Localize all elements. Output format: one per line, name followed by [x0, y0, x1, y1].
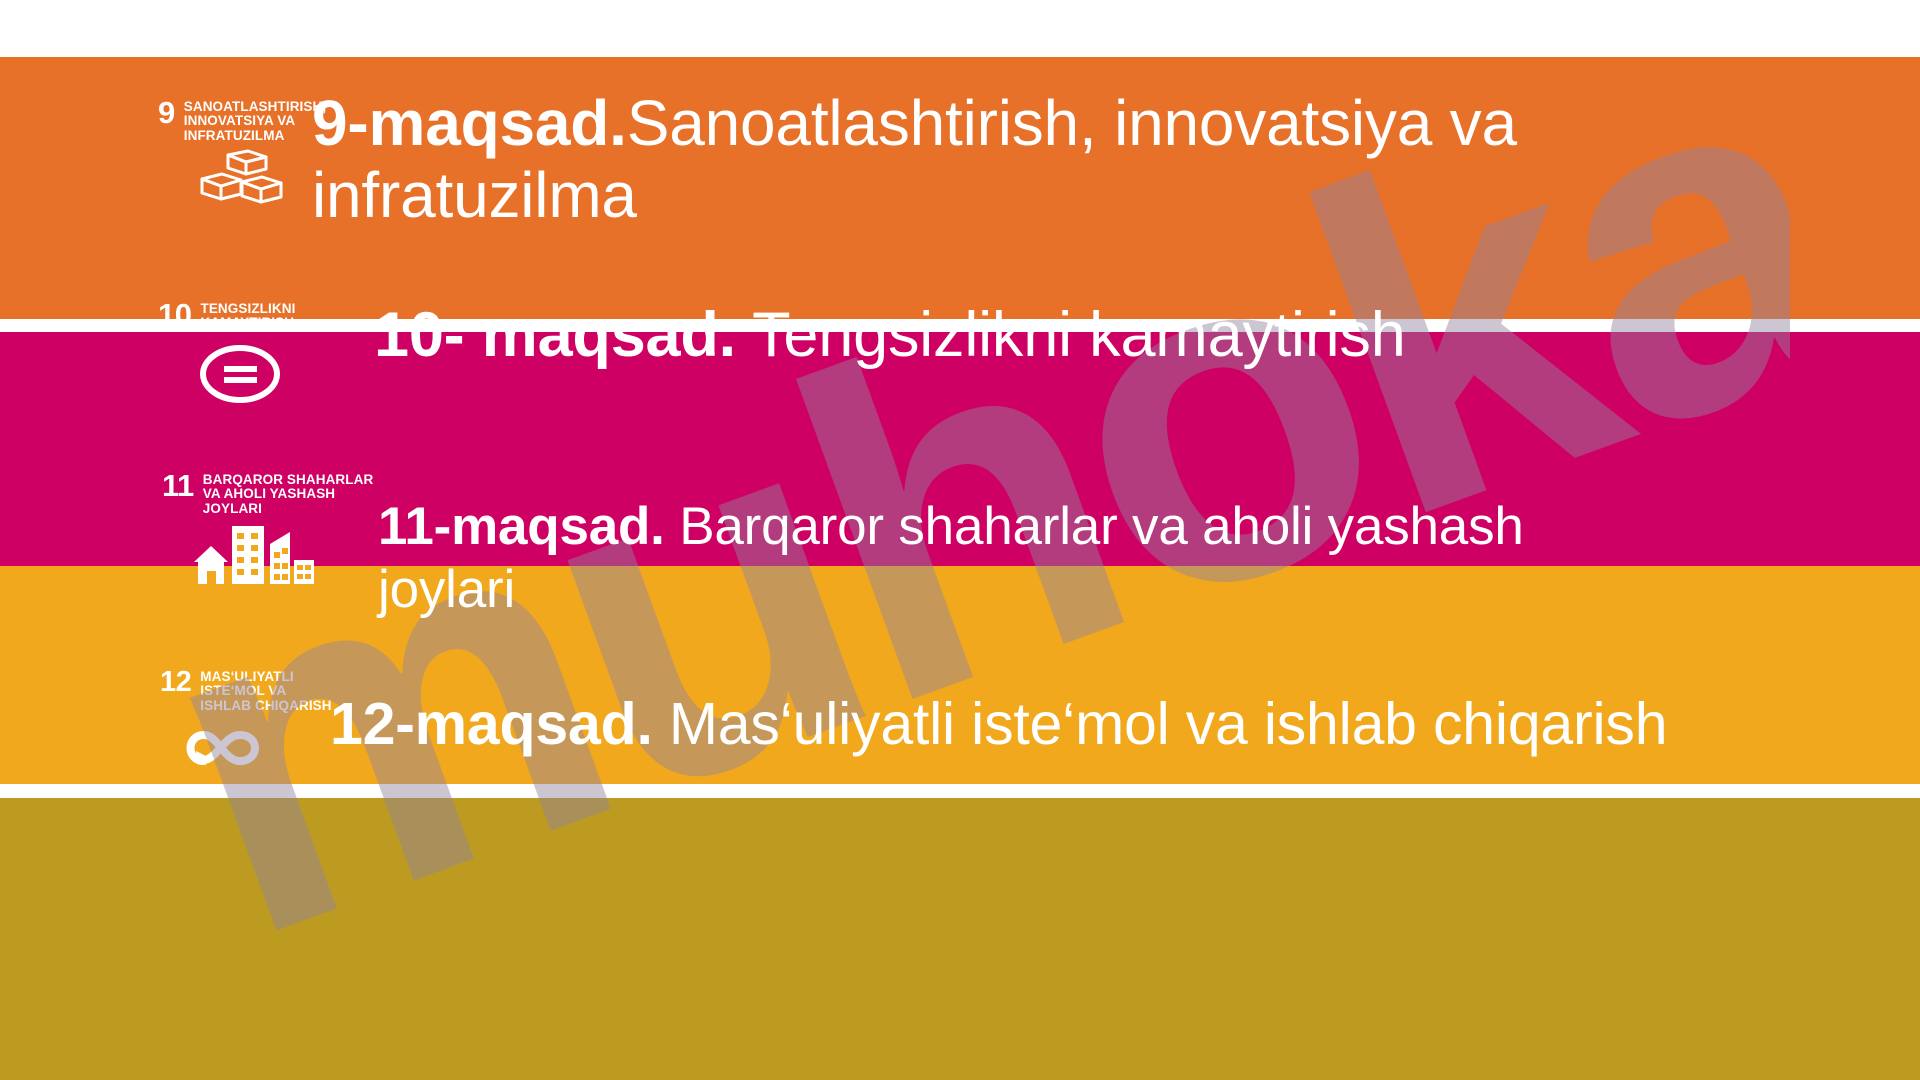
slide-root: muhokama muhokama 9 SANOATLASHTIRISH, IN…: [0, 0, 1920, 1080]
city-buildings-icon: [192, 526, 373, 584]
sdg-logo-10-title: TENGSIZLIKNI KAMAYTIRISH: [200, 302, 295, 331]
goal-text-11: 11-maqsad. Barqaror shaharlar va aholi y…: [378, 496, 1628, 621]
equals-circle-icon: [198, 343, 295, 405]
sdg-logo-10-number: 10: [158, 302, 191, 329]
sdg-logo-10-head: 10 TENGSIZLIKNI KAMAYTIRISH: [158, 302, 295, 331]
blocks-icon: [196, 149, 326, 211]
sdg-logo-10: 10 TENGSIZLIKNI KAMAYTIRISH: [158, 302, 295, 405]
sdg-logo-12-head: 12 MAS‘ULIYATLI ISTE‘MOL VA ISHLAB CHIQA…: [160, 670, 332, 713]
sdg-logo-12-title: MAS‘ULIYATLI ISTE‘MOL VA ISHLAB CHIQARIS…: [200, 670, 331, 713]
sdg-logo-12: 12 MAS‘ULIYATLI ISTE‘MOL VA ISHLAB CHIQA…: [160, 670, 332, 777]
goal-12-body: Mas‘uliyatli iste‘mol va ishlab chiqaris…: [653, 691, 1668, 757]
goal-text-10: 10- maqsad. Tengsizlikni kamaytirish: [374, 300, 1624, 371]
sdg-logo-9-number: 9: [158, 100, 175, 127]
sdg-logo-12-number: 12: [160, 670, 191, 695]
goal-10-lead: 10- maqsad.: [374, 300, 736, 370]
sdg-logo-9: 9 SANOATLASHTIRISH, INNOVATSIYA VA INFRA…: [158, 100, 326, 211]
goal-text-9: 9-maqsad.Sanoatlashtirish, innovatsiya v…: [312, 88, 1612, 231]
goal-band-12: [0, 798, 1920, 1080]
sdg-logo-11-title: BARQAROR SHAHARLAR VA AHOLI YASHASH JOYL…: [203, 473, 374, 516]
goal-9-lead: 9-maqsad.: [312, 87, 627, 159]
goal-text-12: 12-maqsad. Mas‘uliyatli iste‘mol va ishl…: [330, 690, 1730, 760]
sdg-logo-11-head: 11 BARQAROR SHAHARLAR VA AHOLI YASHASH J…: [162, 473, 373, 516]
sdg-logo-11: 11 BARQAROR SHAHARLAR VA AHOLI YASHASH J…: [162, 473, 373, 584]
goal-11-lead: 11-maqsad.: [378, 497, 665, 556]
sdg-logo-11-number: 11: [162, 473, 194, 500]
goal-10-body: Tengsizlikni kamaytirish: [736, 300, 1406, 370]
sdg-logo-9-title: SANOATLASHTIRISH, INNOVATSIYA VA INFRATU…: [184, 100, 326, 143]
infinity-recycle-icon: [174, 721, 332, 777]
sdg-logo-9-head: 9 SANOATLASHTIRISH, INNOVATSIYA VA INFRA…: [158, 100, 326, 143]
goal-12-lead: 12-maqsad.: [330, 691, 653, 757]
